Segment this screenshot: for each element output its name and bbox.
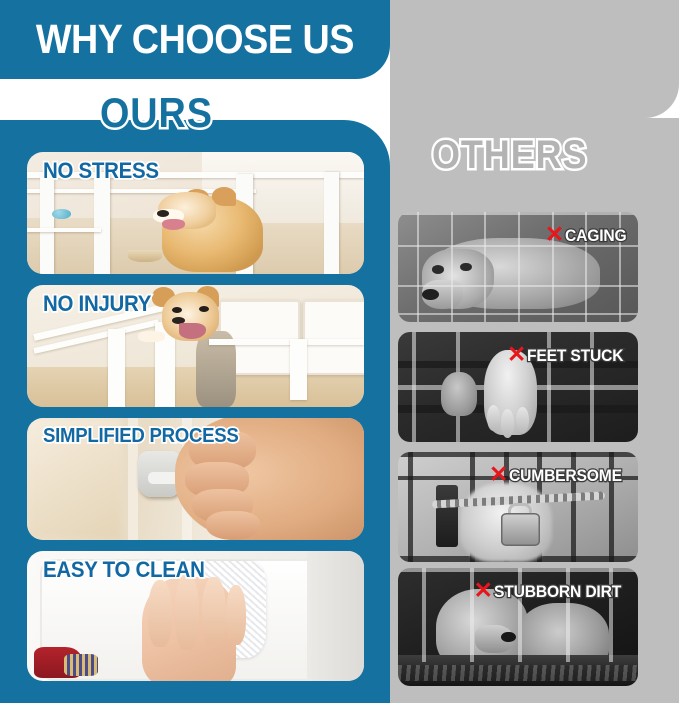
ours-heading: OURS bbox=[100, 92, 213, 134]
x-mark-icon: ✕ bbox=[474, 579, 493, 602]
others-card-label: CUMBERSOME bbox=[509, 467, 622, 484]
others-card-stubborn-dirt: ✕ STUBBORN DIRT bbox=[398, 568, 638, 686]
ours-card-label: SIMPLIFIED PROCESS bbox=[43, 426, 238, 446]
others-card-label: FEET STUCK bbox=[527, 347, 623, 364]
ours-card-label: NO STRESS bbox=[43, 160, 159, 182]
others-card-label-group: ✕ STUBBORN DIRT bbox=[474, 580, 632, 603]
x-mark-icon: ✕ bbox=[489, 463, 508, 486]
others-card-label-group: ✕ FEET STUCK bbox=[507, 344, 632, 367]
ours-card-simplified-process: SIMPLIFIED PROCESS bbox=[27, 418, 364, 540]
others-card-cumbersome: ✕ CUMBERSOME bbox=[398, 452, 638, 562]
ours-card-easy-to-clean: EASY TO CLEAN bbox=[27, 551, 364, 681]
x-mark-icon: ✕ bbox=[507, 343, 526, 366]
others-card-label: STUBBORN DIRT bbox=[494, 583, 621, 600]
ours-card-no-stress: NO STRESS bbox=[27, 152, 364, 274]
others-card-caging: ✕ CAGING bbox=[398, 212, 638, 322]
header-banner: WHY CHOOSE US bbox=[0, 0, 390, 79]
others-card-feet-stuck: ✕ FEET STUCK bbox=[398, 332, 638, 442]
others-card-label-group: ✕ CUMBERSOME bbox=[489, 464, 632, 487]
others-card-label-group: ✕ CAGING bbox=[545, 224, 632, 247]
ours-card-label: EASY TO CLEAN bbox=[43, 559, 205, 581]
ours-card-label: NO INJURY bbox=[43, 293, 151, 315]
gray-panel-cap bbox=[390, 0, 679, 118]
x-mark-icon: ✕ bbox=[545, 223, 564, 246]
page-title: WHY CHOOSE US bbox=[36, 19, 354, 60]
others-card-label: CAGING bbox=[565, 227, 626, 244]
ours-card-no-injury: NO INJURY bbox=[27, 285, 364, 407]
infographic-root: WHY CHOOSE US OURS OTHERS NO STRESS bbox=[0, 0, 679, 703]
others-heading: OTHERS bbox=[432, 135, 587, 175]
